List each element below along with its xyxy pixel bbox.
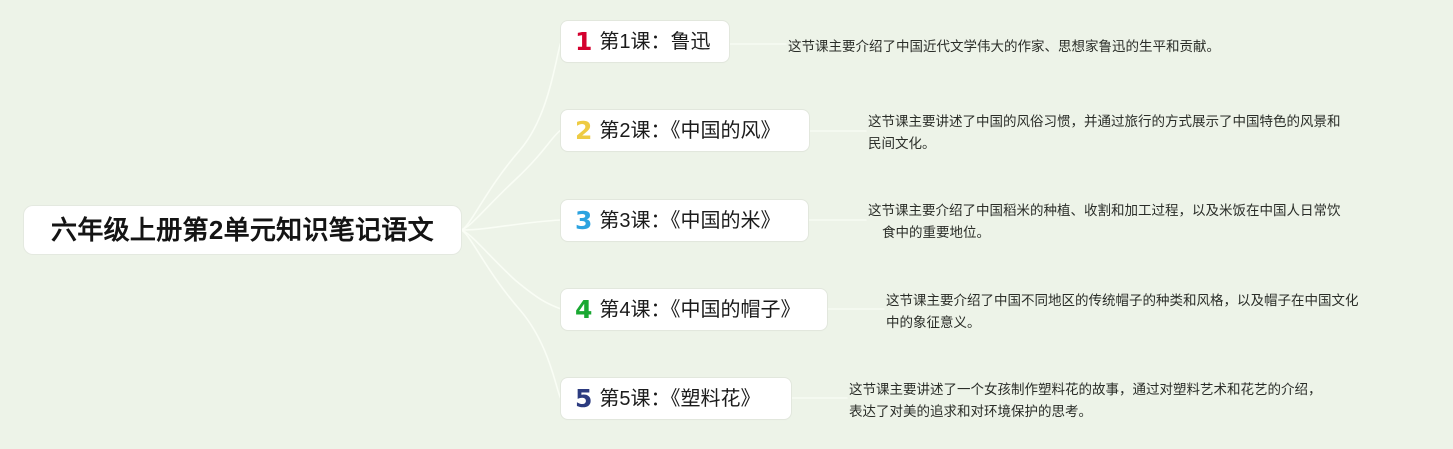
connector-root-to-lesson-5 — [461, 230, 561, 399]
connector-root-to-lesson-2 — [461, 130, 561, 230]
lesson-description-3-line-1: 这节课主要介绍了中国稻米的种植、收割和加工过程，以及米饭在中国人日常饮 — [868, 200, 1341, 222]
lesson-node-5[interactable]: 5 第5课：《塑料花》 — [561, 378, 791, 419]
lesson-title-5: 第5课：《塑料花》 — [599, 389, 760, 409]
lesson-description-4-line-1: 这节课主要介绍了中国不同地区的传统帽子的种类和风格，以及帽子在中国文化 — [886, 290, 1359, 312]
lesson-description-2: 这节课主要讲述了中国的风俗习惯，并通过旅行的方式展示了中国特色的风景和 民间文化… — [868, 111, 1341, 156]
lesson-title-3: 第3课：《中国的米》 — [599, 211, 780, 231]
lesson-description-1: 这节课主要介绍了中国近代文学伟大的作家、思想家鲁迅的生平和贡献。 — [788, 36, 1220, 58]
lesson-number-4: 4 — [575, 297, 592, 322]
connector-root-to-lesson-4 — [461, 230, 561, 309]
lesson-description-5-line-1: 这节课主要讲述了一个女孩制作塑料花的故事，通过对塑料艺术和花艺的介绍， — [849, 379, 1322, 401]
lesson-description-4-line-2: 中的象征意义。 — [886, 312, 1359, 334]
lesson-description-2-line-1: 这节课主要讲述了中国的风俗习惯，并通过旅行的方式展示了中国特色的风景和 — [868, 111, 1341, 133]
connector-root-to-lesson-3 — [461, 220, 561, 230]
lesson-node-2[interactable]: 2 第2课：《中国的风》 — [561, 110, 809, 151]
lesson-node-3[interactable]: 3 第3课：《中国的米》 — [561, 200, 808, 241]
lesson-title-2: 第2课：《中国的风》 — [599, 121, 780, 141]
lesson-number-5: 5 — [575, 386, 592, 411]
lesson-description-3-line-2: 食中的重要地位。 — [868, 222, 1341, 244]
lesson-description-4: 这节课主要介绍了中国不同地区的传统帽子的种类和风格，以及帽子在中国文化 中的象征… — [886, 290, 1359, 335]
connector-root-to-lesson-1 — [461, 42, 561, 230]
lesson-title-4: 第4课：《中国的帽子》 — [599, 300, 800, 320]
lesson-description-5-line-2: 表达了对美的追求和对环境保护的思考。 — [849, 401, 1322, 423]
lesson-description-3: 这节课主要介绍了中国稻米的种植、收割和加工过程，以及米饭在中国人日常饮 食中的重… — [868, 200, 1341, 245]
root-node[interactable]: 六年级上册第2单元知识笔记语文 — [24, 206, 461, 254]
lesson-number-2: 2 — [575, 118, 592, 143]
root-node-label: 六年级上册第2单元知识笔记语文 — [51, 217, 434, 243]
lesson-number-3: 3 — [575, 208, 592, 233]
lesson-description-1-line-1: 这节课主要介绍了中国近代文学伟大的作家、思想家鲁迅的生平和贡献。 — [788, 36, 1220, 58]
lesson-title-1: 第1课：鲁迅 — [599, 32, 710, 52]
lesson-number-1: 1 — [575, 29, 592, 54]
mindmap-canvas: 六年级上册第2单元知识笔记语文 1 第1课：鲁迅 2 第2课：《中国的风》 3 … — [0, 0, 1453, 449]
lesson-node-1[interactable]: 1 第1课：鲁迅 — [561, 21, 729, 62]
lesson-node-4[interactable]: 4 第4课：《中国的帽子》 — [561, 289, 827, 330]
lesson-description-5: 这节课主要讲述了一个女孩制作塑料花的故事，通过对塑料艺术和花艺的介绍， 表达了对… — [849, 379, 1322, 424]
lesson-description-2-line-2: 民间文化。 — [868, 133, 1341, 155]
